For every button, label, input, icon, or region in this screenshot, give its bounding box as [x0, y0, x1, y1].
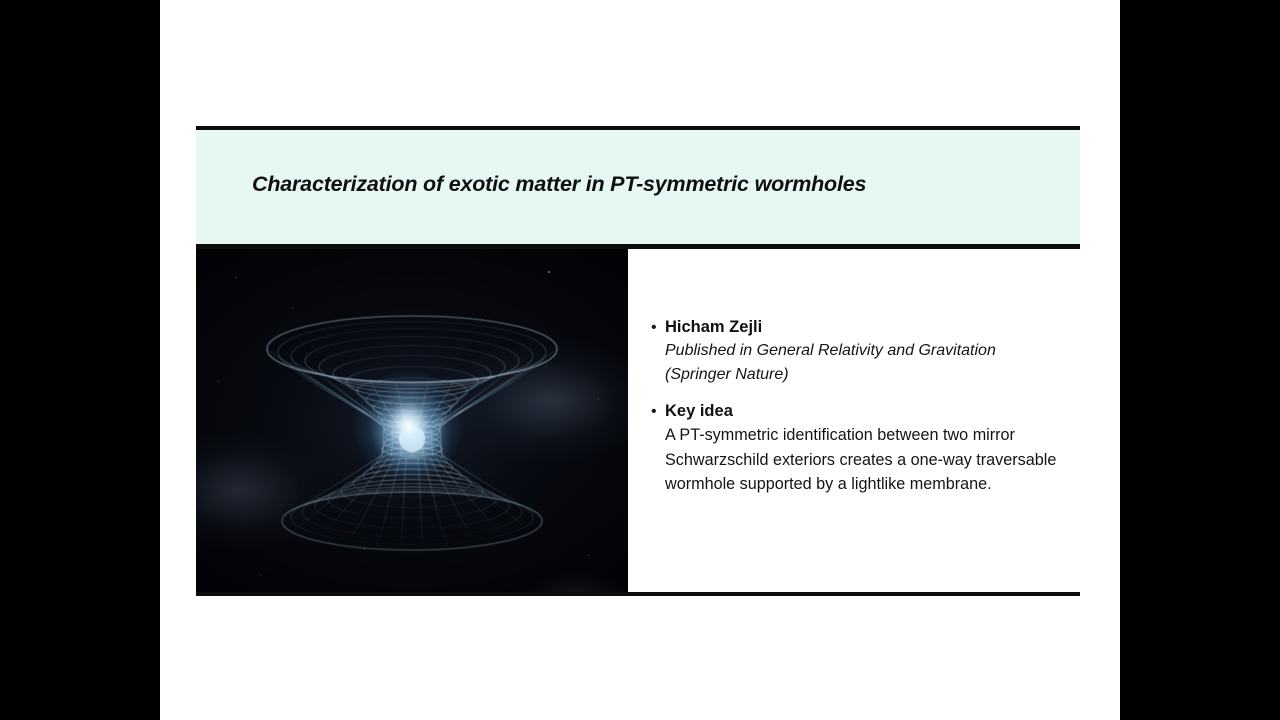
key-idea-paragraph: A PT-symmetric identification between tw… — [665, 423, 1069, 497]
wormhole-throat-glow — [352, 369, 464, 481]
letterbox-bar-right — [1120, 0, 1280, 720]
bullet-item-key-idea: • Key idea A PT-symmetric identification… — [651, 400, 1069, 497]
slide-viewer: Characterization of exotic matter in PT-… — [0, 0, 1280, 720]
key-idea-heading: Key idea — [665, 400, 1069, 423]
bullet-item-author: • Hicham Zejli Published in General Rela… — [651, 316, 1069, 386]
bullet-content: Hicham Zejli Published in General Relati… — [665, 316, 1069, 386]
slide-text-panel: • Hicham Zejli Published in General Rela… — [628, 249, 1080, 595]
presentation-slide: Characterization of exotic matter in PT-… — [196, 126, 1080, 596]
slide-body: • Hicham Zejli Published in General Rela… — [196, 249, 1080, 595]
publication-journal: Published in General Relativity and Grav… — [665, 339, 1069, 363]
slide-bottom-rule — [196, 592, 1080, 596]
bullet-marker-icon: • — [651, 316, 665, 386]
letterbox-bar-left — [0, 0, 160, 720]
bullet-marker-icon: • — [651, 400, 665, 497]
slide-title-band: Characterization of exotic matter in PT-… — [196, 130, 1080, 244]
bullet-list: • Hicham Zejli Published in General Rela… — [651, 316, 1069, 511]
author-name: Hicham Zejli — [665, 316, 1069, 339]
publication-publisher: (Springer Nature) — [665, 363, 1069, 387]
wormhole-illustration — [196, 249, 628, 594]
slide-title: Characterization of exotic matter in PT-… — [252, 172, 1042, 197]
bullet-content: Key idea A PT-symmetric identification b… — [665, 400, 1069, 497]
